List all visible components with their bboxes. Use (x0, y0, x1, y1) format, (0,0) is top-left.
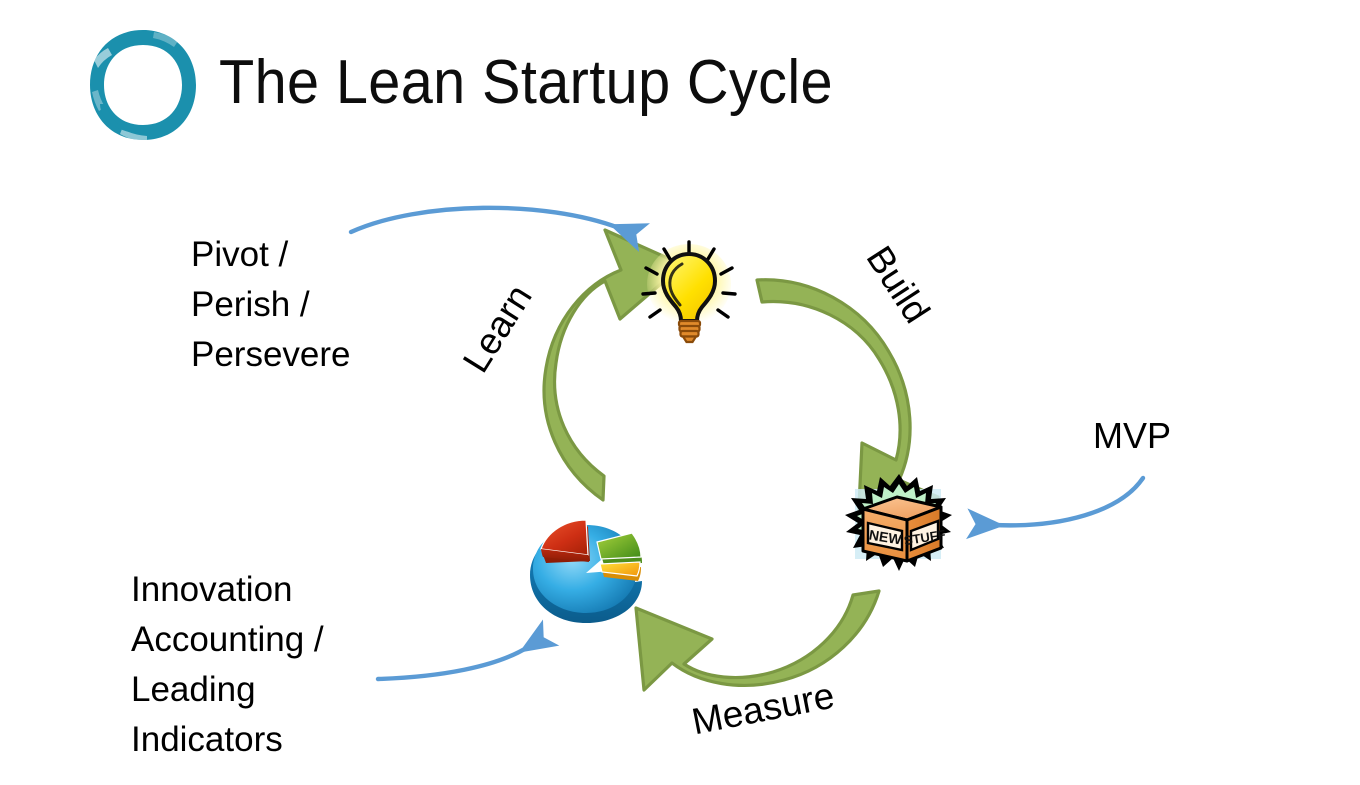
slide-header: The Lean Startup Cycle (0, 0, 1360, 160)
cycle-arrow-measure (636, 591, 879, 690)
annotation-arrow-pivot (351, 208, 619, 232)
cycle-label-measure: Measure (689, 677, 837, 741)
annotation-pivot-perish-persevere: Pivot / Perish / Persevere (191, 230, 351, 380)
slide-canvas: The Lean Startup Cycle (0, 0, 1360, 785)
page-title: The Lean Startup Cycle (219, 44, 833, 122)
annotation-mvp: MVP (1093, 413, 1171, 459)
annotation-arrow-mvp (994, 478, 1143, 525)
new-stuff-box-icon: NEW STUFF (845, 473, 953, 573)
annotation-innovation-accounting: Innovation Accounting / Leading Indicato… (131, 565, 324, 765)
cycle-label-build: Build (860, 240, 936, 329)
lightbulb-icon (634, 238, 746, 346)
pie-chart-icon (524, 503, 648, 627)
annotation-arrow-innovation (378, 647, 528, 679)
enso-circle-logo (84, 26, 202, 144)
cycle-label-learn: Learn (457, 279, 539, 379)
